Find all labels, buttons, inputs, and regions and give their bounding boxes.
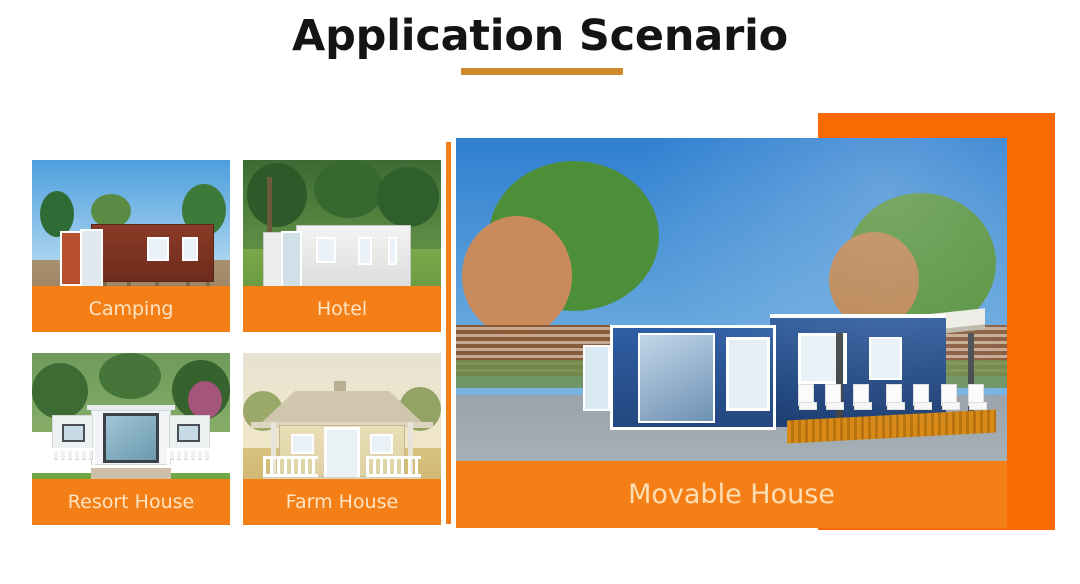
page-header: Application Scenario <box>0 14 1080 59</box>
ghost-text-top <box>390 88 690 104</box>
featured-card-movable-house[interactable]: Movable House <box>456 138 1007 528</box>
scenario-card-grid: Camping Hotel Resort House <box>32 160 442 525</box>
ghost-text-bottom <box>60 536 490 554</box>
featured-caption-movable-house: Movable House <box>456 461 1007 528</box>
featured-left-accent-bar <box>446 142 451 524</box>
scenario-caption-farm-house: Farm House <box>243 479 441 525</box>
scenario-caption-resort-house: Resort House <box>32 479 230 525</box>
scenario-caption-camping: Camping <box>32 286 230 332</box>
title-underline-rule <box>461 68 623 75</box>
scenario-card-resort-house[interactable]: Resort House <box>32 353 230 525</box>
page-title: Application Scenario <box>0 14 1080 59</box>
scenario-card-hotel[interactable]: Hotel <box>243 160 441 332</box>
scenario-card-camping[interactable]: Camping <box>32 160 230 332</box>
scenario-card-farm-house[interactable]: Farm House <box>243 353 441 525</box>
scenario-caption-hotel: Hotel <box>243 286 441 332</box>
